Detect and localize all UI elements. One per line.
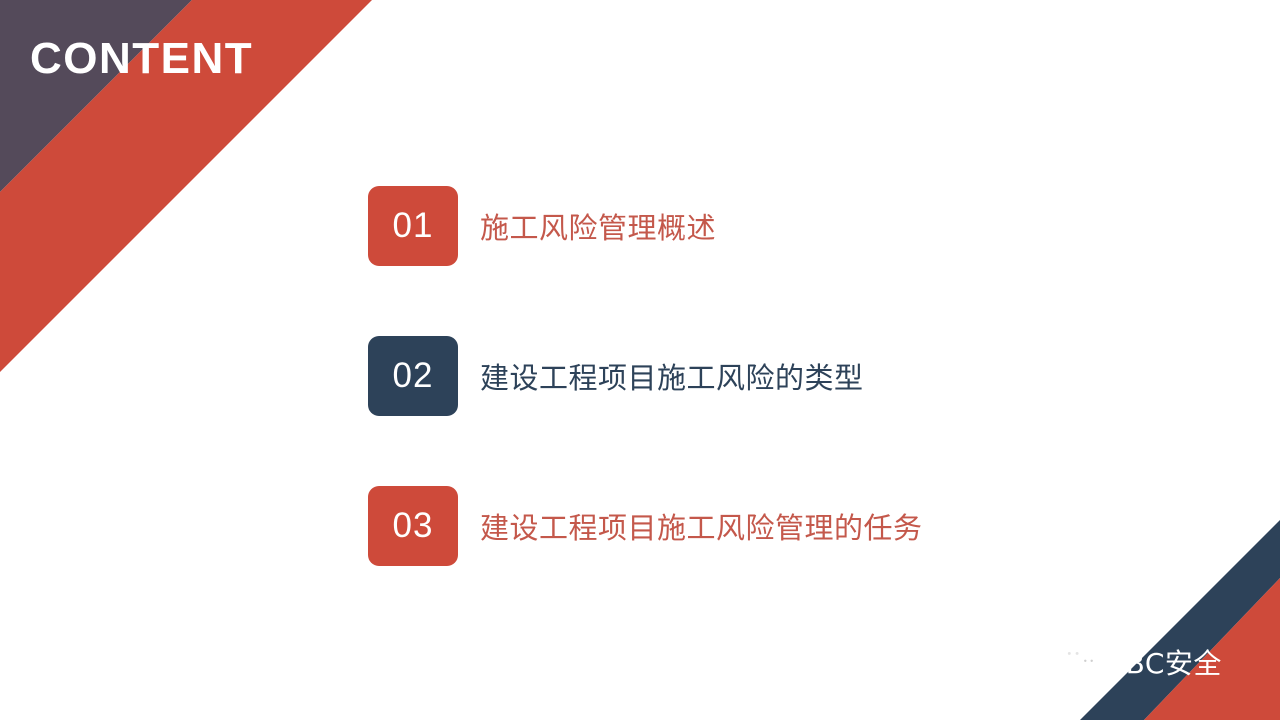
agenda-item-03[interactable]: 03 建设工程项目施工风险管理的任务 — [368, 486, 1168, 566]
top-left-plum-triangle — [0, 0, 192, 192]
watermark: ABC安全 — [1060, 640, 1222, 684]
agenda-item-02[interactable]: 02 建设工程项目施工风险的类型 — [368, 336, 1168, 416]
agenda-label-03: 建设工程项目施工风险管理的任务 — [480, 505, 923, 547]
slide-canvas: CONTENT 01 施工风险管理概述 02 建设工程项目施工风险的类型 03 … — [0, 0, 1280, 720]
page-title: CONTENT — [30, 36, 253, 82]
agenda-label-02: 建设工程项目施工风险的类型 — [480, 355, 864, 397]
wechat-icon — [1060, 645, 1100, 679]
watermark-text: ABC安全 — [1106, 642, 1222, 682]
agenda-number-badge-02: 02 — [368, 336, 458, 416]
agenda-number-badge-03: 03 — [368, 486, 458, 566]
agenda-list: 01 施工风险管理概述 02 建设工程项目施工风险的类型 03 建设工程项目施工… — [368, 186, 1168, 566]
agenda-label-01: 施工风险管理概述 — [480, 205, 716, 247]
agenda-number-badge-01: 01 — [368, 186, 458, 266]
agenda-item-01[interactable]: 01 施工风险管理概述 — [368, 186, 1168, 266]
agenda-number-02: 02 — [393, 356, 434, 396]
agenda-number-01: 01 — [393, 206, 434, 246]
agenda-number-03: 03 — [393, 506, 434, 546]
